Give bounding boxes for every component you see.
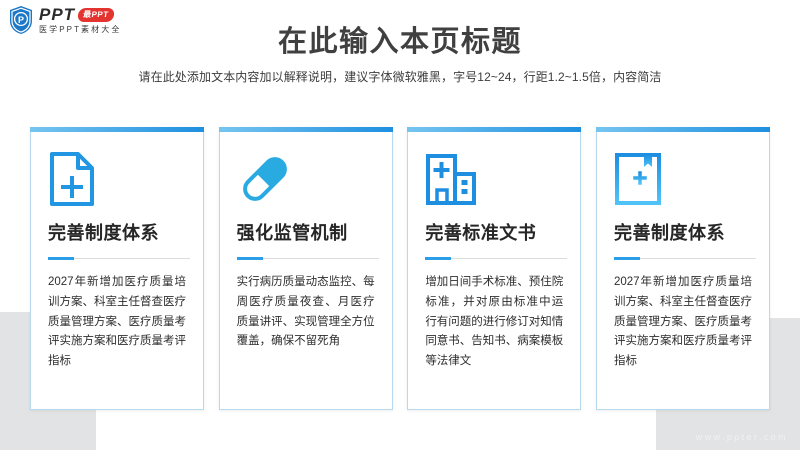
card-item[interactable]: 完善标准文书 增加日间手术标准、预住院标准，并对原由标准中运 行有问题的进行修订…	[407, 127, 581, 410]
card-title: 完善制度体系	[48, 219, 186, 245]
card-accent-bar	[407, 127, 581, 132]
card-title: 完善标准文书	[425, 219, 563, 245]
document-plus-icon	[48, 149, 186, 209]
card-item[interactable]: 强化监管机制 实行病历质量动态监控、每周医疗质量夜查、月医疗 质量讲评、实现管理…	[219, 127, 393, 410]
card-body-text: 增加日间手术标准、预住院标准，并对原由标准中运 行有问题的进行修订对知情同意书、…	[425, 273, 563, 372]
watermark: www.ppter.com	[696, 432, 788, 442]
card-body-text: 2027年新增加医疗质量培训方案、科室主任督查医疗 质量管理方案、医疗质量考评实…	[614, 273, 752, 372]
card-item[interactable]: 完善制度体系 2027年新增加医疗质量培训方案、科室主任督查医疗 质量管理方案、…	[596, 127, 770, 410]
card-row: 完善制度体系 2027年新增加医疗质量培训方案、科室主任督查医疗 质量管理方案、…	[30, 127, 770, 410]
card-divider	[48, 258, 190, 259]
card-accent-bar	[30, 127, 204, 132]
card-accent-bar	[219, 127, 393, 132]
page-title: 在此输入本页标题	[0, 18, 800, 60]
card-title: 完善制度体系	[614, 219, 752, 245]
card-item[interactable]: 完善制度体系 2027年新增加医疗质量培训方案、科室主任督查医疗 质量管理方案、…	[30, 127, 204, 410]
card-divider	[614, 258, 756, 259]
book-medical-icon	[614, 149, 752, 209]
card-body-text: 实行病历质量动态监控、每周医疗质量夜查、月医疗 质量讲评、实现管理全方位覆盖，确…	[237, 273, 375, 352]
card-divider	[237, 258, 379, 259]
hospital-building-icon	[425, 149, 563, 209]
capsule-pill-icon	[237, 149, 375, 209]
card-accent-bar	[596, 127, 770, 132]
page-subtitle: 请在此处添加文本内容加以解释说明，建议字体微软雅黑，字号12~24，行距1.2~…	[0, 68, 800, 85]
card-body-text: 2027年新增加医疗质量培训方案、科室主任督查医疗 质量管理方案、医疗质量考评实…	[48, 273, 186, 372]
slide-canvas: P PPT 最PPT 医学PPT素材大全 在此输入本页标题 请在此处添加文本内容…	[0, 0, 800, 450]
card-divider	[425, 258, 567, 259]
card-title: 强化监管机制	[237, 219, 375, 245]
